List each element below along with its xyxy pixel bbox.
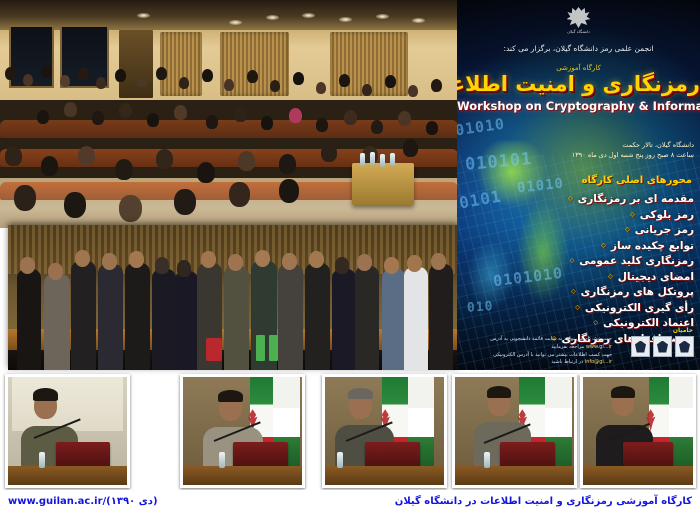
university-emblem-icon	[567, 7, 591, 28]
poster-footer: جهت ثبت نام می توانید به سایت قائمه دانش…	[462, 336, 612, 367]
poster-topic-item: رمزنگاری کلید عمومی	[544, 254, 694, 270]
poster-sponsors	[631, 336, 694, 357]
poster-footer-line-2: مراجعه بفرمایید	[551, 344, 584, 350]
poster-topic-item: توابع چکیده ساز	[544, 239, 694, 255]
poster-topic-item: رأی گیری الکترونیکی	[544, 301, 694, 317]
poster-topic-item: امضای دیجیتال	[544, 270, 694, 286]
auditorium-scene	[0, 0, 458, 228]
side-table	[352, 163, 414, 205]
poster-topics-heading: محورهای اصلی کارگاه	[582, 175, 692, 186]
caption-title: کارگاه آموزشی رمزنگاری و امنیت اطلاعات د…	[395, 496, 692, 507]
poster-footer-url: www.gi...ir	[586, 344, 612, 350]
poster-footer-line-1: جهت ثبت نام می توانید به سایت قائمه دانش…	[462, 336, 612, 344]
sponsor-logo-1	[675, 336, 694, 357]
event-poster: 01010 010101 0101 01010 0101010 010 دانش…	[457, 0, 700, 370]
photo-speaker-5	[580, 374, 696, 488]
poster-venue: دانشگاه گیلان، تالار حکمت	[572, 140, 694, 150]
photo-speaker-2	[180, 374, 305, 488]
binary-decor: 010	[467, 299, 494, 316]
poster-topic-item: مقدمه ای بر رمزنگاری	[544, 192, 694, 208]
poster-topic-item: پروتکل های رمزنگاری	[544, 285, 694, 301]
poster-topic-item: رمز بلوکی	[544, 208, 694, 224]
photo-speaker-3	[322, 374, 447, 488]
poster-title-en: Workshop on Cryptography & Information S…	[457, 99, 700, 113]
speaker-4-scene	[455, 377, 574, 485]
group-scene	[8, 225, 458, 370]
poster-footer-email: info@gi...ir	[585, 359, 612, 365]
poster-topic-item: رمز جریانی	[544, 223, 694, 239]
poster-venue-block: دانشگاه گیلان، تالار حکمت ساعت ۸ صبح روز…	[572, 140, 694, 161]
speaker-3-scene	[325, 377, 444, 485]
sponsor-logo-3	[631, 336, 650, 357]
photo-auditorium	[0, 0, 458, 228]
poster-title-fa: رمزنگاری و امنیت اطلاعات	[457, 72, 700, 96]
poster-topic-item: اعتماد الکترونیکی	[544, 316, 694, 332]
poster-kargah-label: کارگاه آموزشی	[457, 64, 700, 72]
photo-collage: 01010 010101 0101 01010 0101010 010 دانش…	[0, 0, 700, 516]
caption-website[interactable]: www.guilan.ac.ir/(دی ۱۳۹۰)	[8, 496, 158, 507]
photo-speaker-1	[5, 374, 130, 488]
speaker-5-scene	[583, 377, 693, 485]
poster-topics-list: مقدمه ای بر رمزنگاری رمز بلوکی رمز جریان…	[544, 192, 694, 347]
photo-speaker-4	[452, 374, 577, 488]
university-logo-caption: دانشگاه گیلان	[564, 29, 594, 34]
sponsor-logo-2	[653, 336, 672, 357]
poster-association-line: انجمن علمی رمز دانشگاه گیلان، برگزار می …	[457, 44, 700, 53]
speaker-2-scene	[183, 377, 302, 485]
caption-bar: www.guilan.ac.ir/(دی ۱۳۹۰) کارگاه آموزشی…	[0, 490, 700, 516]
university-logo: دانشگاه گیلان	[564, 7, 594, 34]
poster-footer-line-4: در ارتباط باشید	[551, 359, 583, 365]
speaker-1-scene	[8, 377, 127, 485]
poster-footer-line-3: جهت کسب اطلاعات بیشتر می توانید با آدرس …	[462, 352, 612, 360]
photo-group	[8, 225, 458, 370]
poster-sponsors-label: حامیان	[673, 327, 693, 334]
poster-datetime: ساعت ۸ صبح روز پنج شنبه اول دی ماه ۱۳۹۰	[572, 150, 694, 160]
